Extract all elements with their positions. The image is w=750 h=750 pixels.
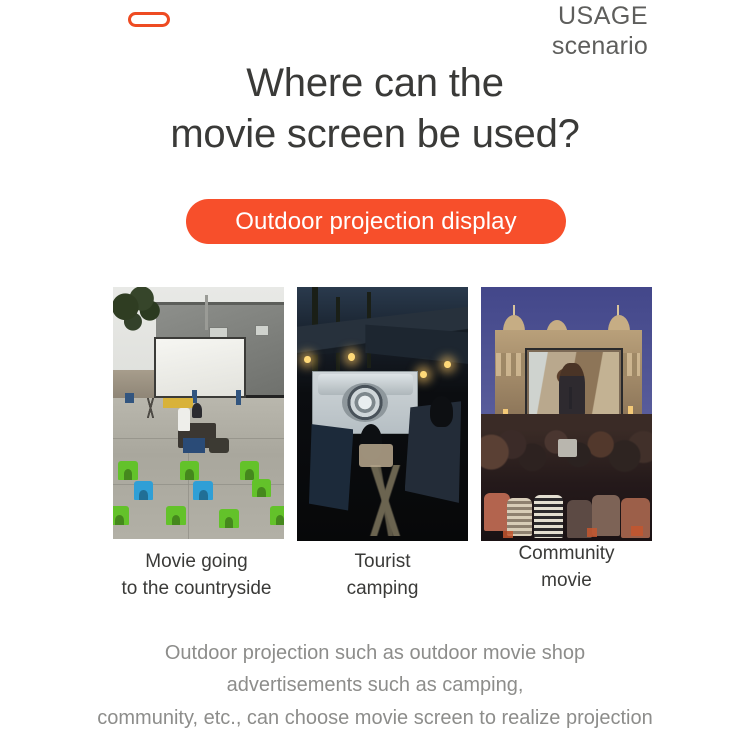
outdoor-projection-display-button[interactable]: Outdoor projection display — [186, 199, 566, 244]
caption-community-movie: Community movie — [481, 541, 652, 595]
page-title-line-1: Where can the — [0, 58, 750, 109]
eyebrow-label: USAGE scenario — [552, 2, 648, 61]
footer-line-3: community, etc., can choose movie screen… — [0, 702, 750, 734]
footer-description: Outdoor projection such as outdoor movie… — [0, 637, 750, 734]
gallery-image-tourist-camping[interactable] — [297, 287, 468, 541]
scenario-gallery — [113, 287, 649, 543]
caption-countryside: Movie going to the countryside — [111, 549, 282, 603]
gallery-captions: Movie going to the countryside Tourist c… — [113, 549, 649, 611]
caption-community-movie-line-2: movie — [481, 568, 652, 595]
caption-tourist-camping: Tourist camping — [297, 549, 468, 603]
caption-community-movie-line-1: Community — [481, 541, 652, 568]
caption-countryside-line-2: to the countryside — [111, 576, 282, 603]
caption-countryside-line-1: Movie going — [111, 549, 282, 576]
footer-line-1: Outdoor projection such as outdoor movie… — [0, 637, 750, 669]
gallery-image-community-movie[interactable] — [481, 287, 652, 541]
caption-tourist-camping-line-2: camping — [297, 576, 468, 603]
page-title: Where can the movie screen be used? — [0, 58, 750, 160]
page-title-line-2: movie screen be used? — [0, 109, 750, 160]
footer-line-2: advertisements such as camping, — [0, 669, 750, 701]
gallery-image-countryside[interactable] — [113, 287, 284, 539]
usage-scenario-page: USAGE scenario Where can the movie scree… — [0, 0, 750, 750]
cta-label: Outdoor projection display — [235, 208, 516, 236]
caption-tourist-camping-line-1: Tourist — [297, 549, 468, 576]
pill-capsule-icon — [128, 12, 170, 27]
eyebrow-top-text: USAGE — [552, 2, 648, 32]
eyebrow-sub-text: scenario — [552, 32, 648, 62]
